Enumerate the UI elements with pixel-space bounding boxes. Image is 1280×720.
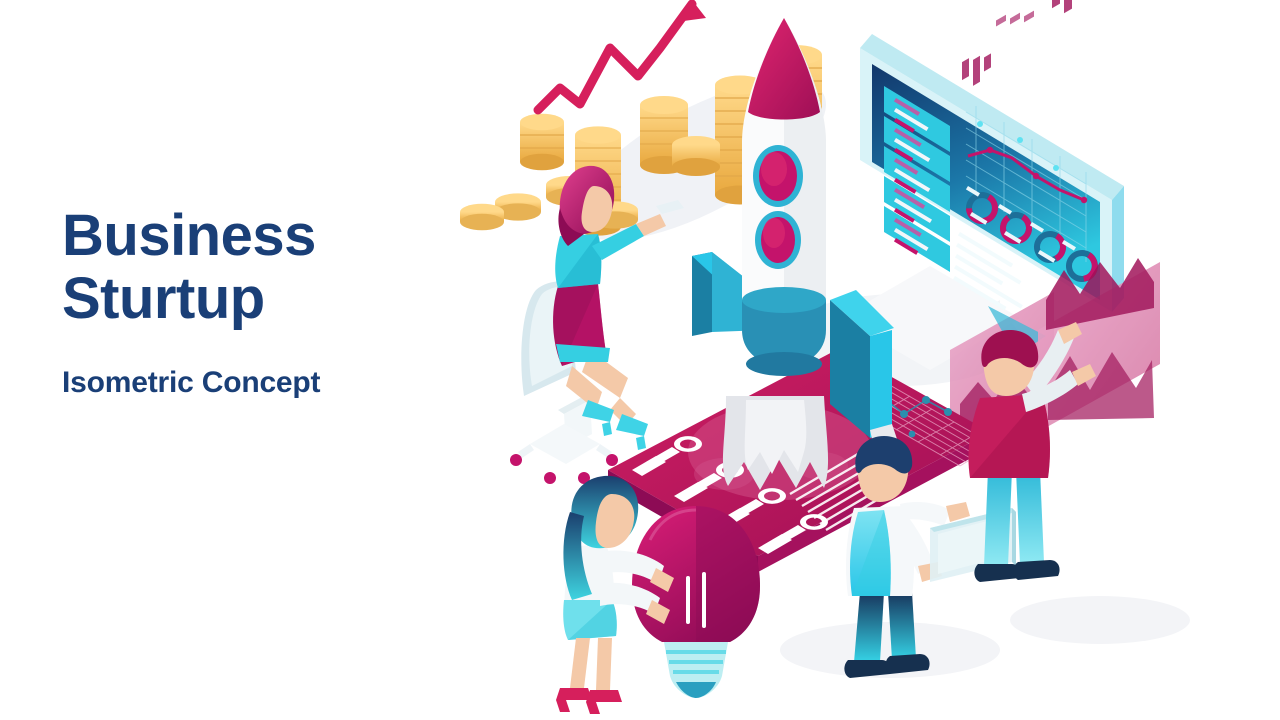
isometric-illustration xyxy=(460,0,1280,720)
coin-stack-2 xyxy=(520,114,564,170)
slide-canvas: Business Sturtup Isometric Concept xyxy=(0,0,1280,720)
page-title: Business Sturtup xyxy=(62,205,522,330)
page-subtitle: Isometric Concept xyxy=(62,330,522,400)
title-block: Business Sturtup Isometric Concept xyxy=(62,205,522,400)
growth-arrow xyxy=(538,0,706,110)
coin-stack-1 xyxy=(672,136,720,176)
rocket-porthole xyxy=(755,211,801,269)
rocket-porthole xyxy=(753,145,803,207)
